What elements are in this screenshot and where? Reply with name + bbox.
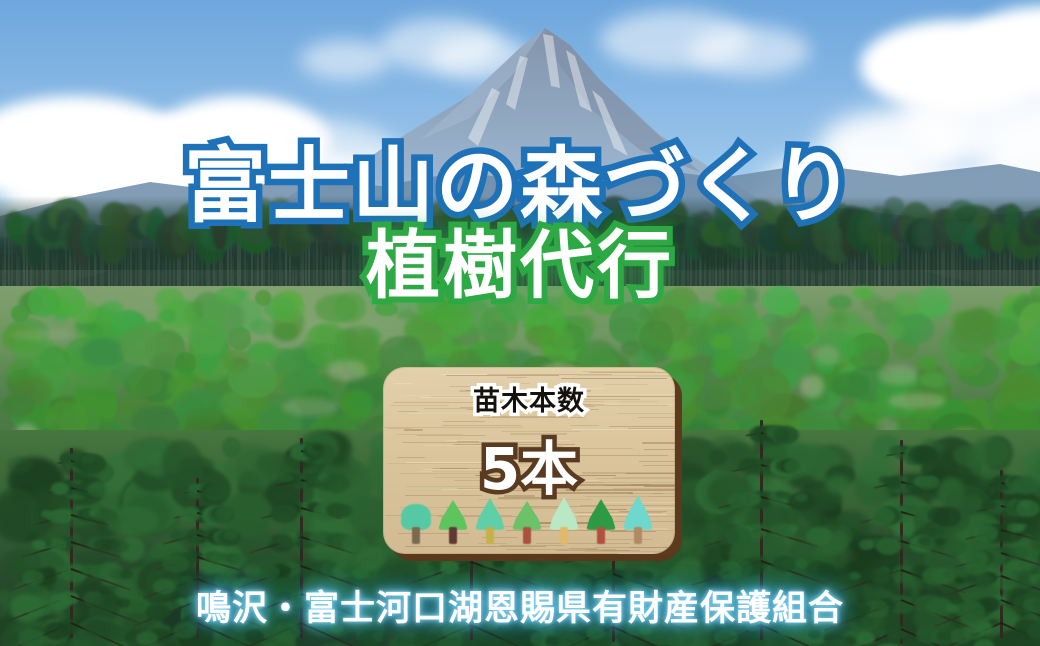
conifer-needles xyxy=(879,476,890,484)
mini-tree-pale-tri xyxy=(549,497,579,544)
sapling xyxy=(831,311,846,327)
sapling xyxy=(343,390,372,418)
sapling xyxy=(247,342,279,364)
ground-patch xyxy=(814,346,839,366)
conifer-needles xyxy=(232,554,247,565)
mini-tree-trunk xyxy=(560,527,568,544)
wood-grain-line xyxy=(629,547,675,548)
mini-tree-trunk xyxy=(486,527,494,544)
conifer-needles xyxy=(120,570,133,579)
sapling xyxy=(188,317,226,355)
ground-patch xyxy=(800,375,824,398)
title-line-2: 植樹代行 xyxy=(0,227,1040,305)
conifer-needles xyxy=(849,572,861,580)
sapling xyxy=(713,349,737,375)
wood-grain-line xyxy=(637,376,675,377)
wood-grain-line xyxy=(618,553,675,554)
mini-tree-canopy xyxy=(475,498,505,530)
conifer-needles xyxy=(964,550,989,567)
mini-tree-leaf-tri xyxy=(512,501,542,544)
mini-tree-trunk xyxy=(634,527,642,544)
mini-tree-mint-round xyxy=(401,504,431,544)
conifer-needles xyxy=(260,535,273,544)
wood-grain-line xyxy=(584,551,675,552)
conifer-needles xyxy=(91,482,103,491)
foreground-foliage xyxy=(972,436,1011,466)
mini-tree-canopy xyxy=(512,501,542,530)
conifer-needles xyxy=(699,633,712,642)
sapling xyxy=(681,319,710,349)
conifer-needles xyxy=(280,474,293,483)
conifer-needles xyxy=(110,540,129,553)
conifer-needles xyxy=(524,564,543,577)
conifer-needles xyxy=(51,482,70,495)
sapling-count-card: 苗木本数 5本 xyxy=(383,367,675,554)
sapling xyxy=(0,395,34,416)
sapling xyxy=(159,309,176,323)
conifer-needles xyxy=(546,636,557,644)
sapling xyxy=(710,334,732,350)
foreground-foliage xyxy=(226,443,280,492)
conifer-needles xyxy=(727,493,748,508)
conifer-needles xyxy=(859,539,874,550)
conifer-needles xyxy=(215,507,232,519)
mini-tree-canopy xyxy=(586,499,616,530)
wood-grain-line xyxy=(405,546,545,548)
conifer-needles xyxy=(412,632,439,646)
conifer-needles xyxy=(418,564,436,577)
conifer-needles xyxy=(397,636,411,646)
conifer-needles xyxy=(4,632,19,643)
conifer-needles xyxy=(937,631,951,641)
sapling xyxy=(197,353,219,374)
card-label: 苗木本数 xyxy=(383,379,675,418)
conifer-needles xyxy=(943,570,954,578)
sapling xyxy=(916,356,939,371)
wood-grain-line xyxy=(582,371,655,372)
mini-tree-darkgreen-tri xyxy=(586,499,616,544)
sapling xyxy=(223,349,249,371)
foreground-foliage xyxy=(7,456,33,473)
conifer-needles xyxy=(738,459,758,473)
sapling xyxy=(639,307,660,321)
conifer-needles xyxy=(32,540,46,550)
conifer-needles xyxy=(714,629,737,645)
ground-patch xyxy=(327,360,366,381)
conifer-needles xyxy=(828,639,851,646)
mini-tree-teal-tri xyxy=(475,498,505,544)
conifer-needles xyxy=(322,474,350,493)
wood-grain-line xyxy=(446,375,559,377)
ground-patch xyxy=(888,393,945,408)
ground-patch xyxy=(11,329,72,340)
mini-tree-canopy xyxy=(623,495,653,530)
title-line-1: 富士山の森づくり xyxy=(0,144,1040,231)
sapling xyxy=(609,317,638,341)
conifer-needles xyxy=(312,444,322,451)
sapling xyxy=(250,319,275,335)
sapling xyxy=(539,326,573,358)
conifer-needles xyxy=(101,510,118,522)
sapling xyxy=(96,374,122,391)
mini-tree-trunk xyxy=(597,527,605,544)
poster-title: 富士山の森づくり 植樹代行 xyxy=(0,144,1040,305)
conifer-needles xyxy=(705,563,721,574)
conifer-needles xyxy=(943,539,967,556)
conifer-needles xyxy=(784,459,805,474)
conifer-needles xyxy=(230,633,248,645)
mini-tree-trunk xyxy=(449,527,457,544)
mini-tree-green-tri xyxy=(438,500,468,544)
conifer-needles xyxy=(352,567,369,579)
conifer-needles xyxy=(270,504,298,523)
foreground-foliage xyxy=(825,475,852,494)
organization-name: 鳴沢・富士河口湖恩賜県有財産保護組合 xyxy=(0,580,1040,631)
conifer-needles xyxy=(1011,476,1037,494)
conifer-needles xyxy=(224,530,238,540)
conifer-needles xyxy=(162,554,189,573)
sapling xyxy=(999,373,1040,402)
sapling xyxy=(144,335,173,356)
conifer-needles xyxy=(332,504,352,518)
conifer-needles xyxy=(869,507,895,525)
conifer-needles xyxy=(170,530,187,542)
mini-tree-turquoise-tri xyxy=(623,495,653,544)
mini-tree-trunk xyxy=(523,527,531,544)
mini-tree-row xyxy=(401,482,657,544)
conifer-needles xyxy=(683,637,693,644)
conifer-needles xyxy=(974,639,994,646)
mini-tree-trunk xyxy=(412,527,420,544)
conifer-needles xyxy=(250,567,261,575)
conifer-needles xyxy=(716,527,739,543)
ground-patch xyxy=(282,398,339,416)
conifer-needles xyxy=(17,629,45,646)
conifer-needles xyxy=(933,507,961,527)
conifer-needles xyxy=(559,633,586,646)
ground-patch xyxy=(878,365,918,385)
sapling xyxy=(740,367,790,421)
sapling xyxy=(52,311,69,324)
sapling xyxy=(831,372,870,398)
conifer-needles xyxy=(642,572,652,579)
mini-tree-canopy xyxy=(438,500,468,530)
sapling xyxy=(862,348,887,365)
poster-canvas: 富士山の森づくり 植樹代行 苗木本数 5本 鳴沢・富士河口湖恩賜県有財産保護組合 xyxy=(0,0,1040,646)
conifer-needles xyxy=(179,507,201,522)
conifer-needles xyxy=(817,563,837,577)
conifer-needles xyxy=(342,535,368,553)
mini-tree-canopy xyxy=(549,497,579,530)
conifer-needles xyxy=(82,454,96,464)
sapling xyxy=(639,320,673,355)
sapling xyxy=(127,366,163,397)
sapling xyxy=(950,323,995,354)
sapling xyxy=(885,321,904,338)
conifer-needles xyxy=(1020,500,1031,508)
conifer-needles xyxy=(439,560,459,574)
sapling xyxy=(790,328,814,345)
